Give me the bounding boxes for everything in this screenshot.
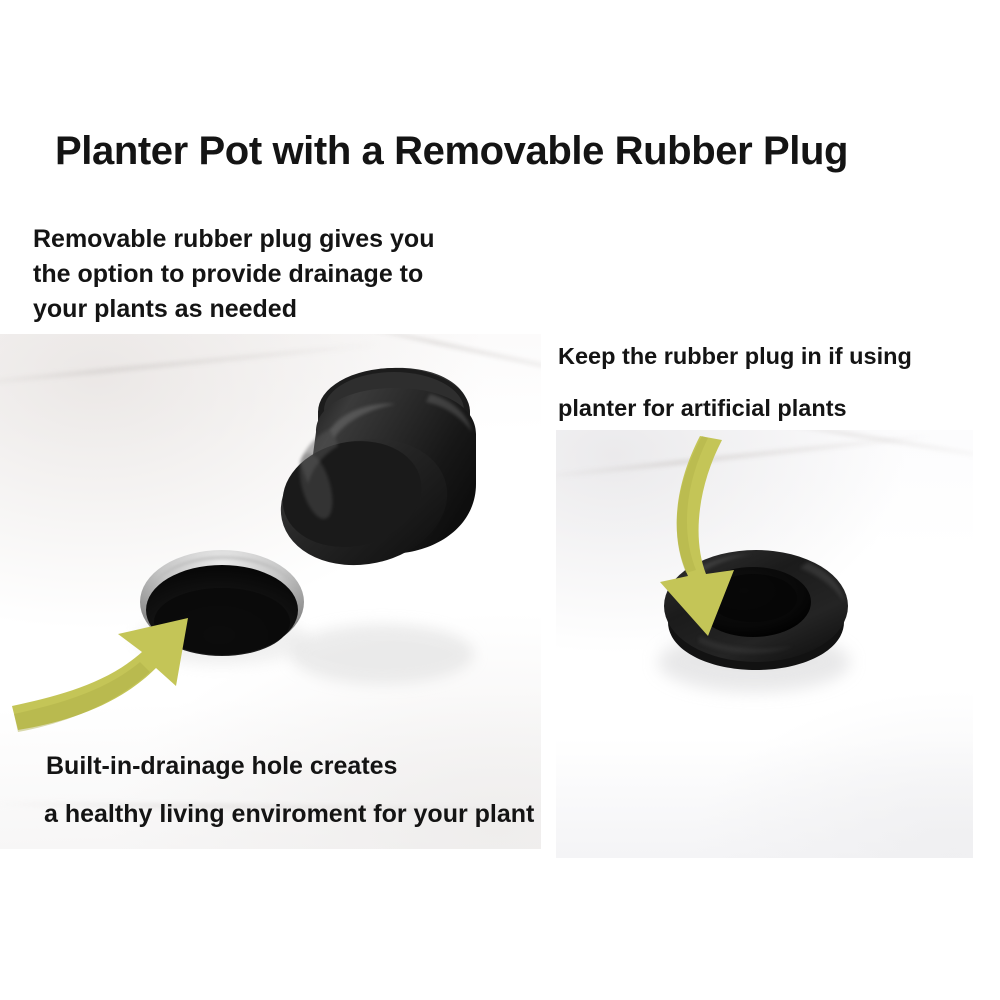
caption-line: your plants as needed <box>33 292 434 327</box>
caption-line: Removable rubber plug gives you <box>33 222 434 257</box>
rubber-plug <box>269 368 476 580</box>
removable-plug-caption: Removable rubber plug gives you the opti… <box>33 222 434 327</box>
caption-line: Keep the rubber plug in if using <box>558 330 912 382</box>
artificial-plants-caption: Keep the rubber plug in if using planter… <box>558 330 912 434</box>
caption-line: Built-in-drainage hole creates <box>46 742 534 790</box>
drainage-hole-caption: Built-in-drainage hole creates a healthy… <box>46 742 534 838</box>
page-title: Planter Pot with a Removable Rubber Plug <box>55 126 955 176</box>
caption-line: a healthy living enviroment for your pla… <box>44 790 534 838</box>
plug-shadow <box>290 624 474 684</box>
caption-line: the option to provide drainage to <box>33 257 434 292</box>
pointer-arrow-up <box>12 618 188 732</box>
caption-line: planter for artificial plants <box>558 382 912 434</box>
poster-canvas: Planter Pot with a Removable Rubber Plug <box>0 0 1000 1000</box>
photo-plug-inserted <box>556 430 973 858</box>
right-panel-artwork <box>556 430 973 858</box>
